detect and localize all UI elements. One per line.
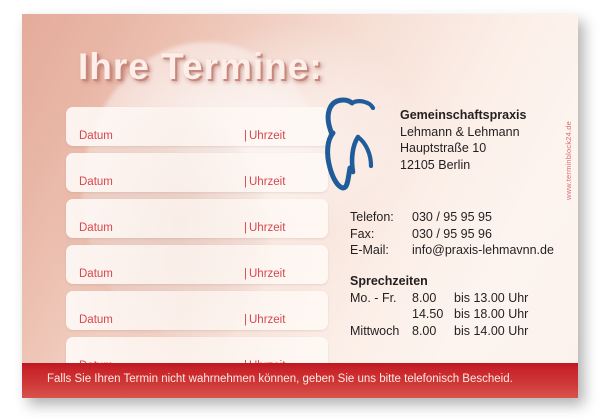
row-separator: | — [244, 268, 247, 280]
practice-owners: Lehmann & Lehmann — [400, 125, 520, 139]
email-value[interactable]: info@praxis-lehmavnn.de — [412, 243, 554, 257]
practice-street: Hauptstraße 10 — [400, 141, 486, 155]
date-label: Datum — [79, 268, 113, 280]
appointment-rows-list: Datum | Uhrzeit Datum | Uhrzeit Datum | … — [66, 107, 328, 383]
contact-details: Telefon:030 / 95 95 95 Fax:030 / 95 95 9… — [350, 209, 554, 259]
screenshot-root: Ihre Termine: Datum | Uhrzeit Datum | Uh… — [0, 0, 600, 420]
appointment-row[interactable]: Datum | Uhrzeit — [66, 199, 328, 238]
practice-city: 12105 Berlin — [400, 158, 470, 172]
opening-hours-title: Sprechzeiten — [350, 273, 528, 290]
practice-name: Gemeinschaftspraxis — [400, 108, 526, 122]
hours-day: Mittwoch — [350, 323, 412, 340]
row-separator: | — [244, 314, 247, 326]
hours-to: bis 18.00 Uhr — [454, 306, 528, 323]
hours-from: 8.00 — [412, 290, 454, 307]
time-label: Uhrzeit — [249, 130, 285, 142]
time-label: Uhrzeit — [249, 268, 285, 280]
notice-banner: Falls Sie Ihren Termin nicht wahrnehmen … — [22, 363, 578, 398]
row-separator: | — [244, 130, 247, 142]
phone-line: Telefon:030 / 95 95 95 — [350, 209, 554, 226]
hours-to: bis 14.00 Uhr — [454, 323, 528, 340]
hours-from: 8.00 — [412, 323, 454, 340]
phone-value: 030 / 95 95 95 — [412, 210, 492, 224]
page-title: Ihre Termine: — [78, 46, 323, 88]
date-label: Datum — [79, 176, 113, 188]
appointment-row[interactable]: Datum | Uhrzeit — [66, 153, 328, 192]
row-separator: | — [244, 176, 247, 188]
opening-hours-row: Mittwoch8.00bis 14.00 Uhr — [350, 323, 528, 340]
opening-hours-row: 14.50bis 18.00 Uhr — [350, 306, 528, 323]
phone-label: Telefon: — [350, 209, 412, 226]
fax-label: Fax: — [350, 226, 412, 243]
practice-address: Gemeinschaftspraxis Lehmann & Lehmann Ha… — [400, 107, 526, 173]
vertical-website-url[interactable]: www.terminblock24.de — [564, 60, 573, 200]
notice-banner-text: Falls Sie Ihren Termin nicht wahrnehmen … — [47, 373, 513, 385]
date-label: Datum — [79, 222, 113, 234]
date-label: Datum — [79, 314, 113, 326]
appointment-row[interactable]: Datum | Uhrzeit — [66, 291, 328, 330]
email-line: E-Mail:info@praxis-lehmavnn.de — [350, 242, 554, 259]
row-separator: | — [244, 222, 247, 234]
appointment-card: Ihre Termine: Datum | Uhrzeit Datum | Uh… — [22, 14, 578, 398]
hours-from: 14.50 — [412, 306, 454, 323]
opening-hours: Sprechzeiten Mo. - Fr.8.00bis 13.00 Uhr … — [350, 273, 528, 339]
appointment-row[interactable]: Datum | Uhrzeit — [66, 245, 328, 284]
opening-hours-row: Mo. - Fr.8.00bis 13.00 Uhr — [350, 290, 528, 307]
appointment-row[interactable]: Datum | Uhrzeit — [66, 107, 328, 146]
fax-value: 030 / 95 95 96 — [412, 227, 492, 241]
hours-day: Mo. - Fr. — [350, 290, 412, 307]
fax-line: Fax:030 / 95 95 96 — [350, 226, 554, 243]
time-label: Uhrzeit — [249, 314, 285, 326]
date-label: Datum — [79, 130, 113, 142]
email-label: E-Mail: — [350, 242, 412, 259]
hours-to: bis 13.00 Uhr — [454, 290, 528, 307]
tooth-logo-icon — [322, 96, 386, 192]
time-label: Uhrzeit — [249, 222, 285, 234]
time-label: Uhrzeit — [249, 176, 285, 188]
